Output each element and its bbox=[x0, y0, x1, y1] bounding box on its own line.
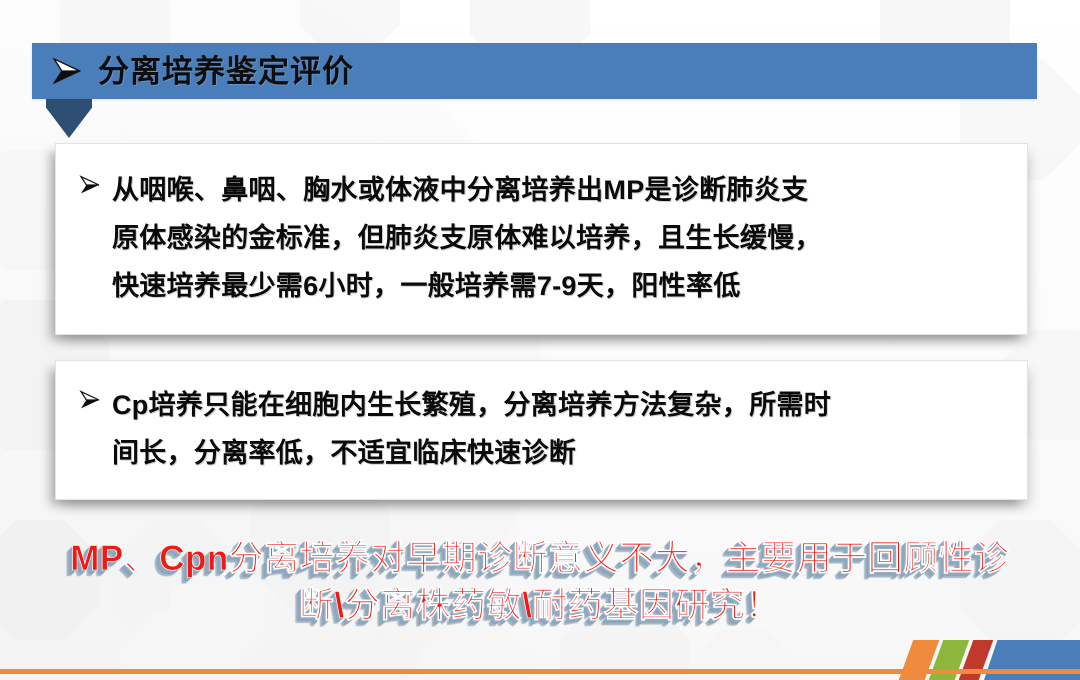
bullet-item: Cp培养只能在细胞内生长繁殖，分离培养方法复杂，所需时 间长，分离率低，不适宜临… bbox=[56, 361, 1027, 477]
conclusion-wordart: MP、Cpn分离培养对早期诊断意义不大，主要用于回顾性诊 断\分离株药敏\耐药基… bbox=[0, 535, 1080, 629]
arrow-bullet-icon bbox=[78, 388, 102, 412]
bullet-item: 从咽喉、鼻咽、胸水或体液中分离培养出MP是诊断肺炎支 原体感染的金标准，但肺炎支… bbox=[56, 144, 1027, 310]
ribbon-tail bbox=[46, 99, 92, 138]
content-card-1: 从咽喉、鼻咽、胸水或体液中分离培养出MP是诊断肺炎支 原体感染的金标准，但肺炎支… bbox=[55, 143, 1028, 335]
bullet-line: 原体感染的金标准，但肺炎支原体难以培养，且生长缓慢， bbox=[112, 214, 1001, 262]
bullet-line: 间长，分离率低，不适宜临床快速诊断 bbox=[112, 429, 1001, 477]
slide-title-banner: 分离培养鉴定评价 bbox=[32, 43, 1037, 99]
conclusion-line: MP、Cpn分离培养对早期诊断意义不大，主要用于回顾性诊 bbox=[0, 535, 1080, 582]
slide-canvas: 分离培养鉴定评价 从咽喉、鼻咽、胸水或体液中分离培养出MP是诊断肺炎支 原体感染… bbox=[0, 0, 1080, 680]
bottom-blue-block bbox=[984, 640, 1080, 680]
bullet-line: Cp培养只能在细胞内生长繁殖，分离培养方法复杂，所需时 bbox=[112, 381, 1001, 429]
content-card-2: Cp培养只能在细胞内生长繁殖，分离培养方法复杂，所需时 间长，分离率低，不适宜临… bbox=[55, 360, 1028, 500]
conclusion-line: 断\分离株药敏\耐药基因研究！ bbox=[0, 582, 1080, 629]
bullet-line: 从咽喉、鼻咽、胸水或体液中分离培养出MP是诊断肺炎支 bbox=[112, 166, 1001, 214]
page-title: 分离培养鉴定评价 bbox=[98, 56, 354, 87]
arrow-bullet-icon bbox=[78, 173, 102, 197]
bottom-orange-line bbox=[0, 669, 1080, 674]
arrow-bullet-icon bbox=[50, 54, 84, 88]
bullet-line: 快速培养最少需6小时，一般培养需7-9天，阳性率低 bbox=[112, 262, 1001, 310]
